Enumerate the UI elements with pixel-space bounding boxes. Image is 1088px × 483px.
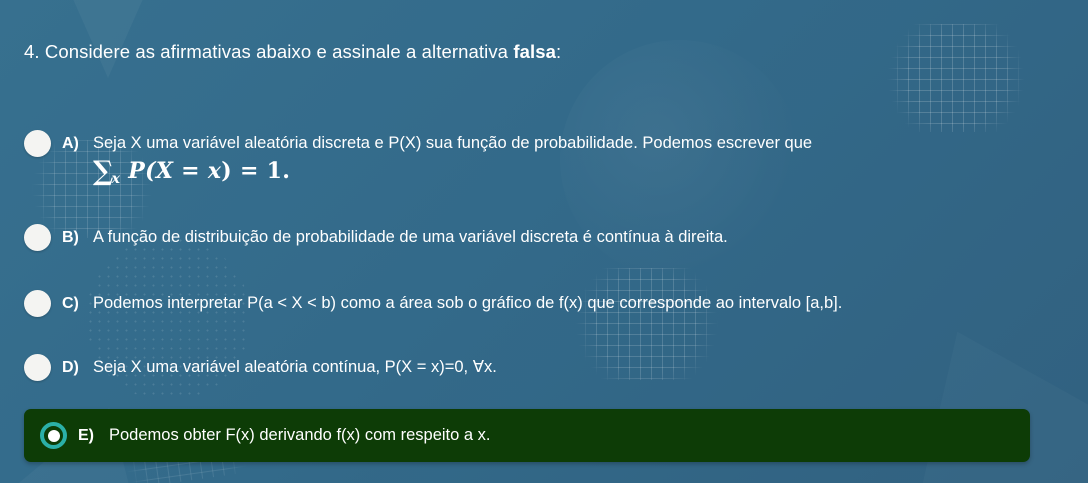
summation-symbol: ∑ (93, 156, 114, 187)
answer-option-c[interactable]: C) Podemos interpretar P(a < X < b) como… (0, 288, 1088, 332)
option-letter-c: C) (62, 293, 82, 315)
option-a-formula: ∑x P(X = x) = 1. (93, 158, 812, 191)
answer-option-e[interactable]: E) Podemos obter F(x) derivando f(x) com… (24, 409, 1030, 462)
radio-button-d[interactable] (24, 354, 51, 381)
radio-button-c[interactable] (24, 290, 51, 317)
background-triangle-decoration-top-left (46, 0, 170, 78)
option-letter-e: E) (78, 425, 98, 447)
question-title: 4. Considere as afirmativas abaixo e ass… (24, 40, 1048, 64)
option-letter-d: D) (62, 357, 82, 379)
question-title-emphasis: falsa (513, 41, 556, 62)
answer-option-a[interactable]: A) Seja X uma variável aleatória discret… (0, 128, 1088, 191)
formula-close-paren: ) (221, 158, 232, 184)
formula-variable: x (208, 158, 221, 184)
option-text-a: Seja X uma variável aleatória discreta e… (93, 132, 812, 191)
formula-equals-1: = (181, 158, 200, 184)
option-letter-b: B) (62, 227, 82, 249)
option-text-d: Seja X uma variável aleatória contínua, … (93, 356, 497, 379)
formula-value: 1. (267, 158, 291, 184)
radio-button-a[interactable] (24, 130, 51, 157)
option-text-b: A função de distribuição de probabilidad… (93, 226, 728, 249)
radio-button-b[interactable] (24, 224, 51, 251)
question-title-prefix: 4. Considere as afirmativas abaixo e ass… (24, 41, 513, 62)
option-text-e: Podemos obter F(x) derivando f(x) com re… (109, 424, 490, 447)
question-title-suffix: : (556, 41, 561, 62)
radio-button-e[interactable] (40, 422, 67, 449)
option-text-c: Podemos interpretar P(a < X < b) como a … (93, 292, 842, 315)
option-letter-a: A) (62, 133, 82, 155)
answer-option-b[interactable]: B) A função de distribuição de probabili… (0, 222, 1088, 266)
formula-equals-2: = (240, 158, 259, 184)
answer-option-d[interactable]: D) Seja X uma variável aleatória contínu… (0, 352, 1088, 396)
option-text-a-line: Seja X uma variável aleatória discreta e… (93, 134, 812, 152)
formula-probability-expression: P(X (128, 158, 173, 184)
quiz-question-panel: 4. Considere as afirmativas abaixo e ass… (0, 0, 1088, 483)
